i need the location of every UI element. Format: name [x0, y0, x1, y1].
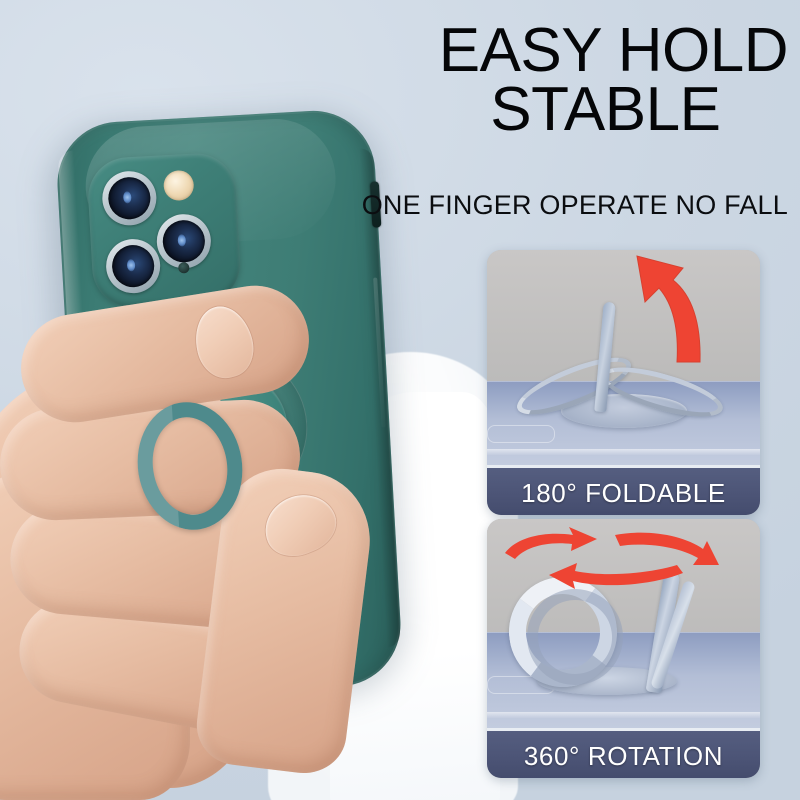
product-marketing-image: EASY HOLD STABLE ONE FINGER OPERATE NO F…	[0, 0, 800, 800]
hand-holding-phone	[0, 0, 800, 800]
